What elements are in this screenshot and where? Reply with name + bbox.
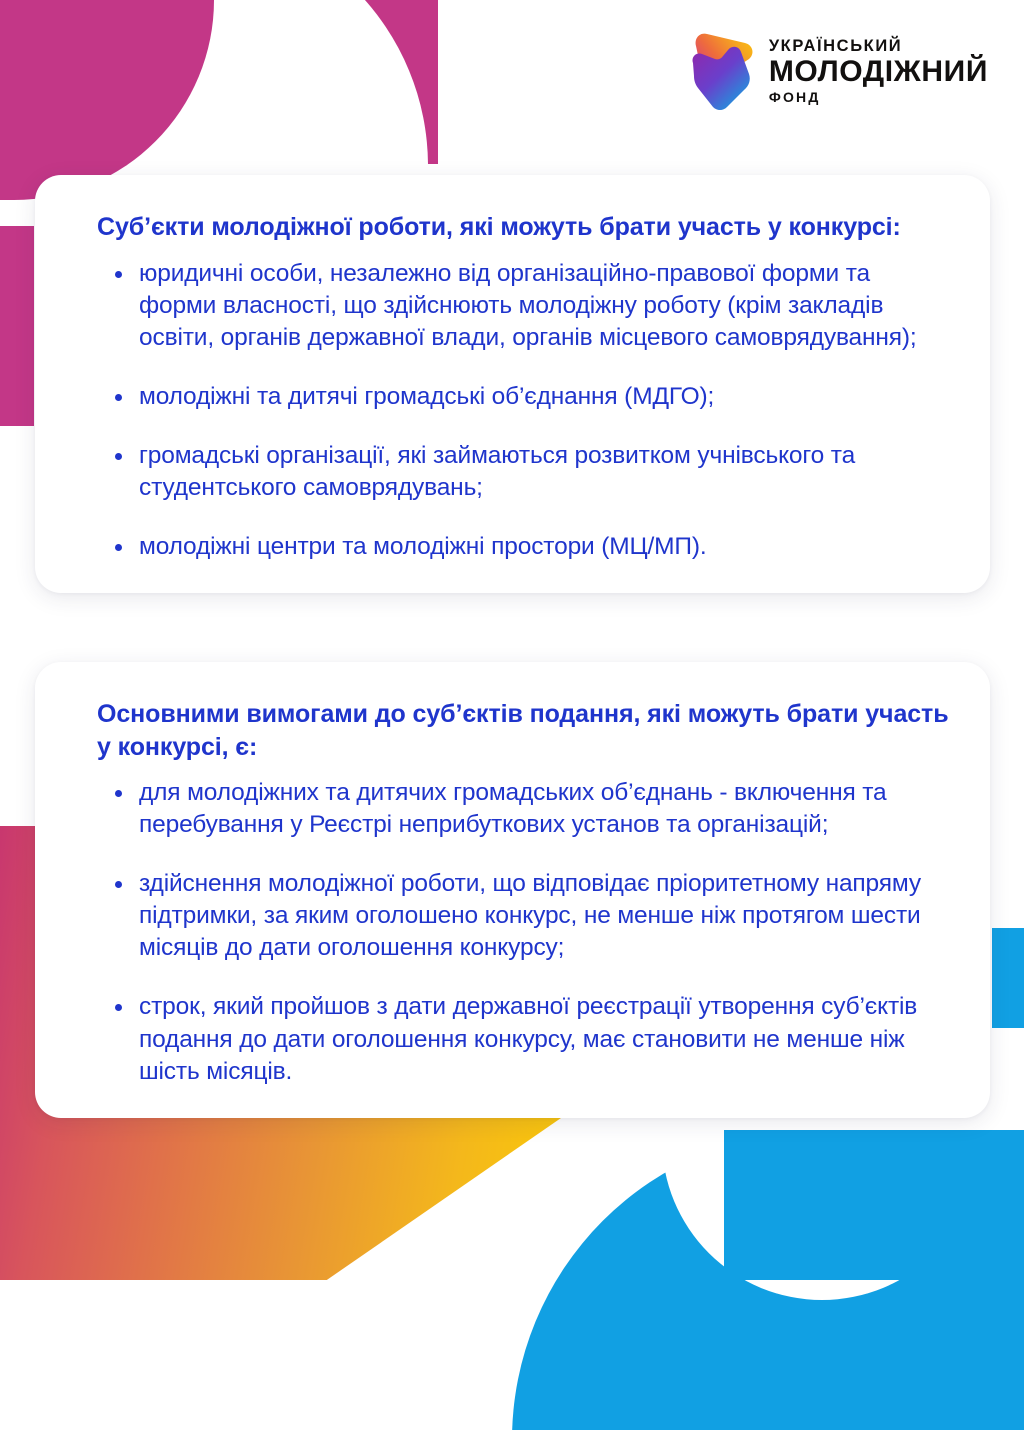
bullet-dot-icon (115, 881, 122, 888)
logo-line-1: УКРАЇНСЬКИЙ (769, 38, 988, 55)
bullet-list: для молодіжних та дитячих громадських об… (67, 777, 950, 1088)
bullet-dot-icon (115, 1004, 122, 1011)
info-card-main-requirements: Основними вимогами до суб’єктів подання,… (35, 662, 990, 1118)
bullet-list: юридичні особи, незалежно від організаці… (67, 258, 950, 564)
bullet-dot-icon (115, 790, 122, 797)
brand-logo-text: УКРАЇНСЬКИЙ МОЛОДІЖНИЙ ФОНД (769, 38, 988, 105)
bullet-dot-icon (115, 271, 122, 278)
card-title: Суб’єкти молодіжної роботи, які можуть б… (97, 211, 950, 244)
list-item: строк, який пройшов з дати державної реє… (67, 991, 950, 1087)
list-item: молодіжні та дитячі громадські об’єднанн… (67, 381, 950, 413)
bullet-dot-icon (115, 394, 122, 401)
list-item: громадські організації, які займаються р… (67, 440, 950, 504)
brand-logo: УКРАЇНСЬКИЙ МОЛОДІЖНИЙ ФОНД (687, 28, 988, 114)
logo-line-3: ФОНД (769, 90, 988, 104)
blue-rectangle-right-edge (992, 928, 1024, 1028)
logo-line-2: МОЛОДІЖНИЙ (769, 57, 988, 87)
list-item: для молодіжних та дитячих громадських об… (67, 777, 950, 841)
magenta-strip-left (0, 226, 34, 426)
list-item-text: юридичні особи, незалежно від організаці… (139, 260, 917, 351)
list-item: юридичні особи, незалежно від організаці… (67, 258, 950, 354)
magenta-block-top-right (218, 0, 438, 164)
bullet-dot-icon (115, 453, 122, 460)
list-item: здійснення молодіжної роботи, що відпові… (67, 868, 950, 964)
blue-curved-band-bottom (512, 1130, 1024, 1430)
list-item-text: строк, який пройшов з дати державної реє… (139, 993, 917, 1084)
list-item-text: молодіжні та дитячі громадські об’єднанн… (139, 383, 714, 410)
info-card-eligible-subjects: Суб’єкти молодіжної роботи, які можуть б… (35, 175, 990, 593)
magenta-quarter-disc-top-left (0, 0, 214, 200)
list-item-text: для молодіжних та дитячих громадських об… (139, 779, 887, 838)
list-item-text: громадські організації, які займаються р… (139, 442, 855, 501)
youth-fund-mark-icon (687, 28, 757, 114)
bullet-dot-icon (115, 544, 122, 551)
blue-block-bottom-right (724, 1130, 1024, 1280)
list-item-text: здійснення молодіжної роботи, що відпові… (139, 870, 921, 961)
card-title: Основними вимогами до суб’єктів подання,… (97, 698, 950, 763)
list-item-text: молодіжні центри та молодіжні простори (… (139, 533, 707, 560)
list-item: молодіжні центри та молодіжні простори (… (67, 531, 950, 563)
